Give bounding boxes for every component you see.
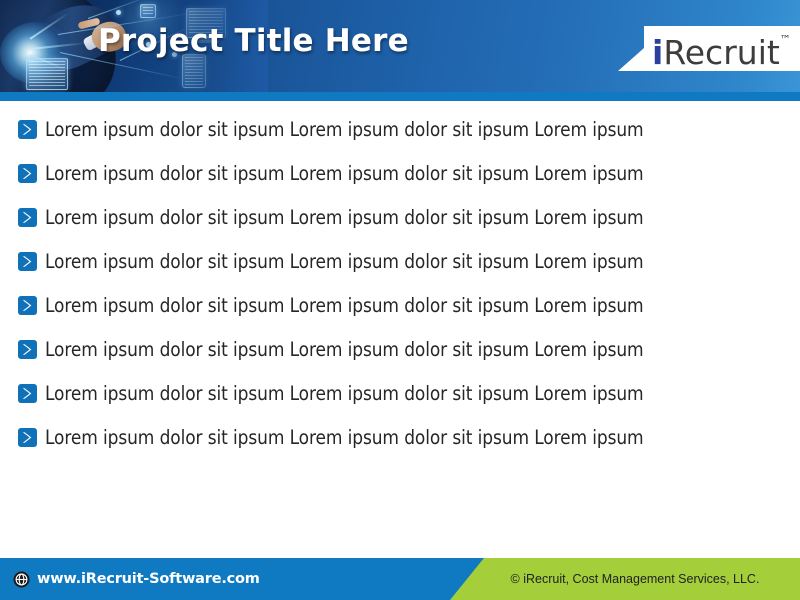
slide-content: Lorem ipsum dolor sit ipsum Lorem ipsum … [0, 101, 800, 553]
irecruit-logo: iRecruit™ [652, 26, 791, 71]
list-item-label: Lorem ipsum dolor sit ipsum Lorem ipsum … [45, 382, 644, 405]
slide-header: Project Title Here iRecruit™ [0, 0, 800, 92]
chevron-right-icon [18, 164, 37, 183]
photo-server-icon [26, 58, 68, 90]
bullet-list: Lorem ipsum dolor sit ipsum Lorem ipsum … [18, 107, 782, 459]
header-accent-strip [0, 92, 800, 101]
list-item-label: Lorem ipsum dolor sit ipsum Lorem ipsum … [45, 118, 644, 141]
list-item-label: Lorem ipsum dolor sit ipsum Lorem ipsum … [45, 162, 644, 185]
list-item: Lorem ipsum dolor sit ipsum Lorem ipsum … [18, 283, 782, 327]
list-item: Lorem ipsum dolor sit ipsum Lorem ipsum … [18, 107, 782, 151]
chevron-right-icon [18, 428, 37, 447]
chevron-right-icon [18, 296, 37, 315]
trademark-symbol: ™ [780, 33, 791, 46]
chevron-right-icon [18, 252, 37, 271]
chevron-right-icon [18, 384, 37, 403]
logo-letter-i: i [652, 33, 663, 72]
footer-copyright: © iRecruit, Cost Management Services, LL… [470, 558, 800, 600]
globe-icon [13, 571, 30, 588]
slide-footer: www.iRecruit-Software.com © iRecruit, Co… [0, 558, 800, 600]
footer-url-label: www.iRecruit-Software.com [37, 571, 260, 587]
list-item-label: Lorem ipsum dolor sit ipsum Lorem ipsum … [45, 250, 644, 273]
list-item-label: Lorem ipsum dolor sit ipsum Lorem ipsum … [45, 294, 644, 317]
list-item-label: Lorem ipsum dolor sit ipsum Lorem ipsum … [45, 206, 644, 229]
footer-copyright-label: © iRecruit, Cost Management Services, LL… [511, 572, 760, 586]
chevron-right-icon [18, 120, 37, 139]
footer-website[interactable]: www.iRecruit-Software.com [13, 558, 260, 600]
list-item-label: Lorem ipsum dolor sit ipsum Lorem ipsum … [45, 338, 644, 361]
list-item: Lorem ipsum dolor sit ipsum Lorem ipsum … [18, 195, 782, 239]
logo-word-recruit: Recruit [663, 33, 779, 72]
list-item: Lorem ipsum dolor sit ipsum Lorem ipsum … [18, 415, 782, 459]
chevron-right-icon [18, 340, 37, 359]
list-item: Lorem ipsum dolor sit ipsum Lorem ipsum … [18, 151, 782, 195]
list-item: Lorem ipsum dolor sit ipsum Lorem ipsum … [18, 371, 782, 415]
list-item: Lorem ipsum dolor sit ipsum Lorem ipsum … [18, 239, 782, 283]
photo-node-dot [116, 10, 121, 15]
slide: Project Title Here iRecruit™ Lorem ipsum… [0, 0, 800, 600]
page-title: Project Title Here [98, 23, 409, 59]
list-item-label: Lorem ipsum dolor sit ipsum Lorem ipsum … [45, 426, 644, 449]
chevron-right-icon [18, 208, 37, 227]
list-item: Lorem ipsum dolor sit ipsum Lorem ipsum … [18, 327, 782, 371]
